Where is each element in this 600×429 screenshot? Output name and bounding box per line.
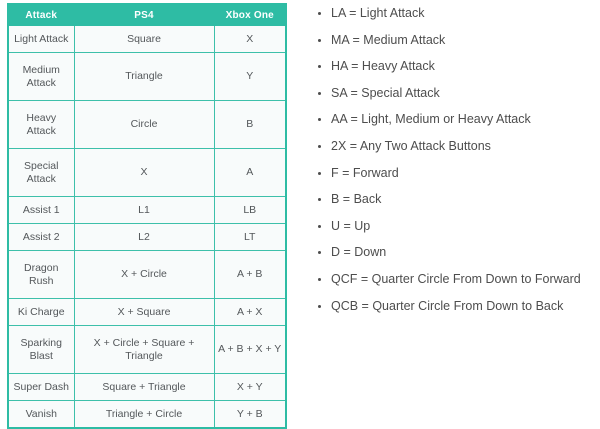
cell-attack: Special Attack bbox=[8, 149, 74, 197]
cell-xbox-one: A bbox=[214, 149, 286, 197]
cell-xbox-one: A + B + X + Y bbox=[214, 326, 286, 374]
table-header-row: Attack PS4 Xbox One bbox=[8, 4, 286, 26]
table-header: Attack PS4 Xbox One bbox=[8, 4, 286, 26]
legend-item: B = Back bbox=[312, 192, 594, 207]
table-row: Assist 1L1LB bbox=[8, 197, 286, 224]
cell-ps4: X + Circle + Square + Triangle bbox=[74, 326, 214, 374]
cell-ps4: Square bbox=[74, 26, 214, 53]
cell-attack: Sparking Blast bbox=[8, 326, 74, 374]
legend-item: SA = Special Attack bbox=[312, 86, 594, 101]
cell-xbox-one: Y bbox=[214, 53, 286, 101]
cell-xbox-one: B bbox=[214, 101, 286, 149]
legend-item: LA = Light Attack bbox=[312, 6, 594, 21]
cell-attack: Assist 2 bbox=[8, 224, 74, 251]
cell-ps4: X + Square bbox=[74, 299, 214, 326]
controls-table: Attack PS4 Xbox One Light AttackSquareXM… bbox=[7, 3, 287, 429]
cell-xbox-one: A + B bbox=[214, 251, 286, 299]
cell-attack: Heavy Attack bbox=[8, 101, 74, 149]
legend-item: D = Down bbox=[312, 245, 594, 260]
table-row: Sparking BlastX + Circle + Square + Tria… bbox=[8, 326, 286, 374]
cell-ps4: Square + Triangle bbox=[74, 374, 214, 401]
legend-item: HA = Heavy Attack bbox=[312, 59, 594, 74]
cell-ps4: Triangle bbox=[74, 53, 214, 101]
cell-xbox-one: A + X bbox=[214, 299, 286, 326]
column-header-xbox-one: Xbox One bbox=[214, 4, 286, 26]
cell-ps4: X + Circle bbox=[74, 251, 214, 299]
table-row: Light AttackSquareX bbox=[8, 26, 286, 53]
table-row: Medium AttackTriangleY bbox=[8, 53, 286, 101]
table-row: Dragon RushX + CircleA + B bbox=[8, 251, 286, 299]
legend-item: U = Up bbox=[312, 219, 594, 234]
cell-xbox-one: LT bbox=[214, 224, 286, 251]
controls-table-container: Attack PS4 Xbox One Light AttackSquareXM… bbox=[7, 3, 285, 429]
table-row: VanishTriangle + CircleY + B bbox=[8, 401, 286, 429]
cell-xbox-one: X + Y bbox=[214, 374, 286, 401]
cell-attack: Light Attack bbox=[8, 26, 74, 53]
column-header-ps4: PS4 bbox=[74, 4, 214, 26]
legend-item: MA = Medium Attack bbox=[312, 33, 594, 48]
cell-ps4: Circle bbox=[74, 101, 214, 149]
cell-attack: Ki Charge bbox=[8, 299, 74, 326]
cell-attack: Medium Attack bbox=[8, 53, 74, 101]
cell-xbox-one: Y + B bbox=[214, 401, 286, 429]
legend-item: F = Forward bbox=[312, 166, 594, 181]
cell-attack: Assist 1 bbox=[8, 197, 74, 224]
table-row: Ki ChargeX + SquareA + X bbox=[8, 299, 286, 326]
legend-item: AA = Light, Medium or Heavy Attack bbox=[312, 112, 594, 127]
table-body: Light AttackSquareXMedium AttackTriangle… bbox=[8, 26, 286, 429]
cell-ps4: L2 bbox=[74, 224, 214, 251]
table-row: Super DashSquare + TriangleX + Y bbox=[8, 374, 286, 401]
table-row: Assist 2L2LT bbox=[8, 224, 286, 251]
abbreviation-legend-list: LA = Light AttackMA = Medium AttackHA = … bbox=[312, 6, 594, 325]
cell-xbox-one: X bbox=[214, 26, 286, 53]
column-header-attack: Attack bbox=[8, 4, 74, 26]
legend-item: 2X = Any Two Attack Buttons bbox=[312, 139, 594, 154]
cell-ps4: L1 bbox=[74, 197, 214, 224]
cell-ps4: Triangle + Circle bbox=[74, 401, 214, 429]
cell-attack: Super Dash bbox=[8, 374, 74, 401]
cell-ps4: X bbox=[74, 149, 214, 197]
cell-attack: Dragon Rush bbox=[8, 251, 74, 299]
table-row: Special AttackXA bbox=[8, 149, 286, 197]
legend-item: QCB = Quarter Circle From Down to Back bbox=[312, 299, 594, 314]
legend-item: QCF = Quarter Circle From Down to Forwar… bbox=[312, 272, 594, 287]
table-row: Heavy AttackCircleB bbox=[8, 101, 286, 149]
cell-attack: Vanish bbox=[8, 401, 74, 429]
cell-xbox-one: LB bbox=[214, 197, 286, 224]
